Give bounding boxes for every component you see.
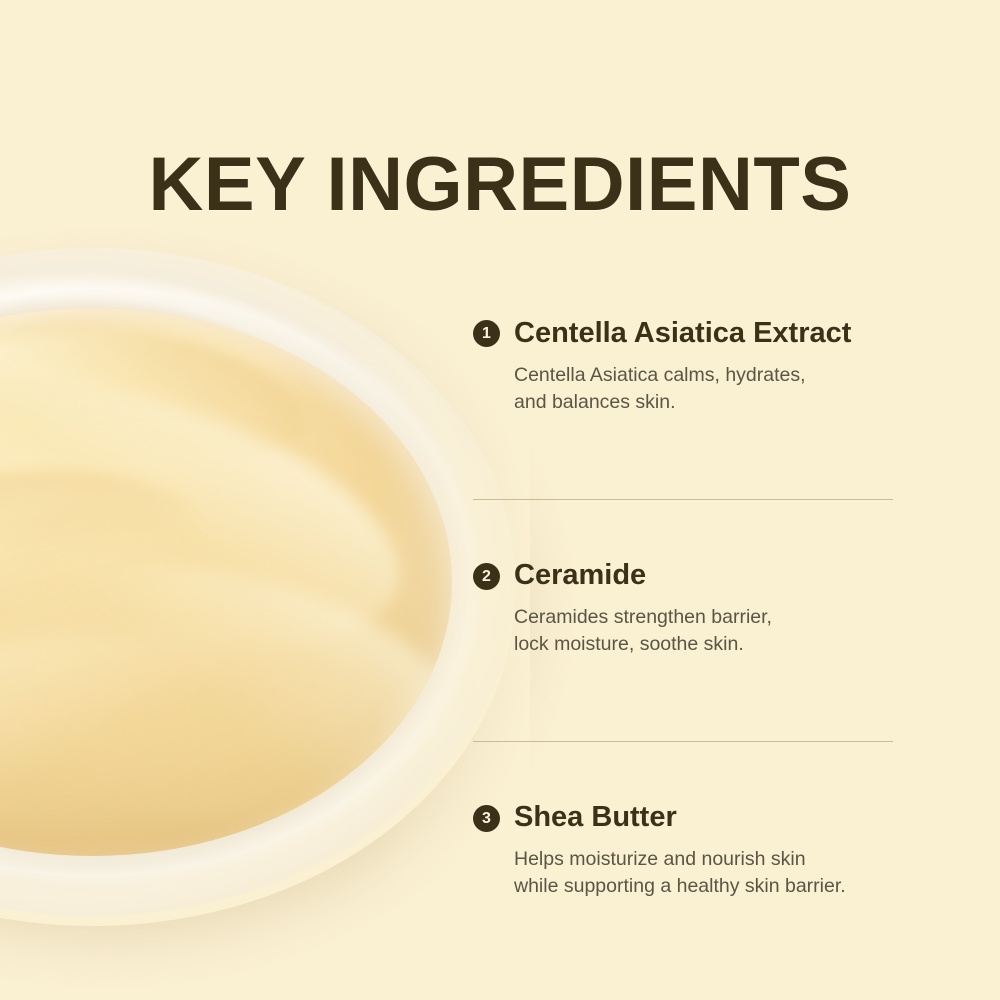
ingredient-heading: 3 Shea Butter [473,802,898,834]
number-badge-icon: 1 [473,320,500,347]
number-badge-icon: 3 [473,805,500,832]
cream-swirl [0,451,215,658]
product-photo-cream-jar [0,248,515,916]
cream-swirl [0,308,328,659]
cream-swirl [0,447,262,855]
ingredient-name: Centella Asiatica Extract [514,318,851,350]
spacer [473,677,898,741]
ingredient-description: Ceramides strengthen barrier, lock moist… [514,604,898,658]
ingredient-name: Shea Butter [514,802,677,834]
page-title: KEY INGREDIENTS [0,147,1000,223]
ingredient-heading: 2 Ceramide [473,560,898,592]
ingredient-list: 1 Centella Asiatica Extract Centella Asi… [473,318,898,920]
ingredient-item-3: 3 Shea Butter Helps moisturize and nouri… [473,802,898,900]
spacer [473,500,898,560]
cream-swirl [0,528,452,856]
ingredient-name: Ceramide [514,560,646,592]
ingredient-description: Helps moisturize and nourish skin while … [514,846,898,900]
ingredient-description: Centella Asiatica calms, hydrates, and b… [514,362,898,416]
ingredient-item-2: 2 Ceramide Ceramides strengthen barrier,… [473,560,898,658]
list-divider [473,499,893,500]
ingredient-item-1: 1 Centella Asiatica Extract Centella Asi… [473,318,898,416]
spacer [473,742,898,802]
ingredient-heading: 1 Centella Asiatica Extract [473,318,898,350]
spacer [473,435,898,499]
key-ingredients-poster: KEY INGREDIENTS 1 Centella Asiatica Extr… [0,0,1000,1000]
list-divider [473,741,893,742]
number-badge-icon: 2 [473,563,500,590]
